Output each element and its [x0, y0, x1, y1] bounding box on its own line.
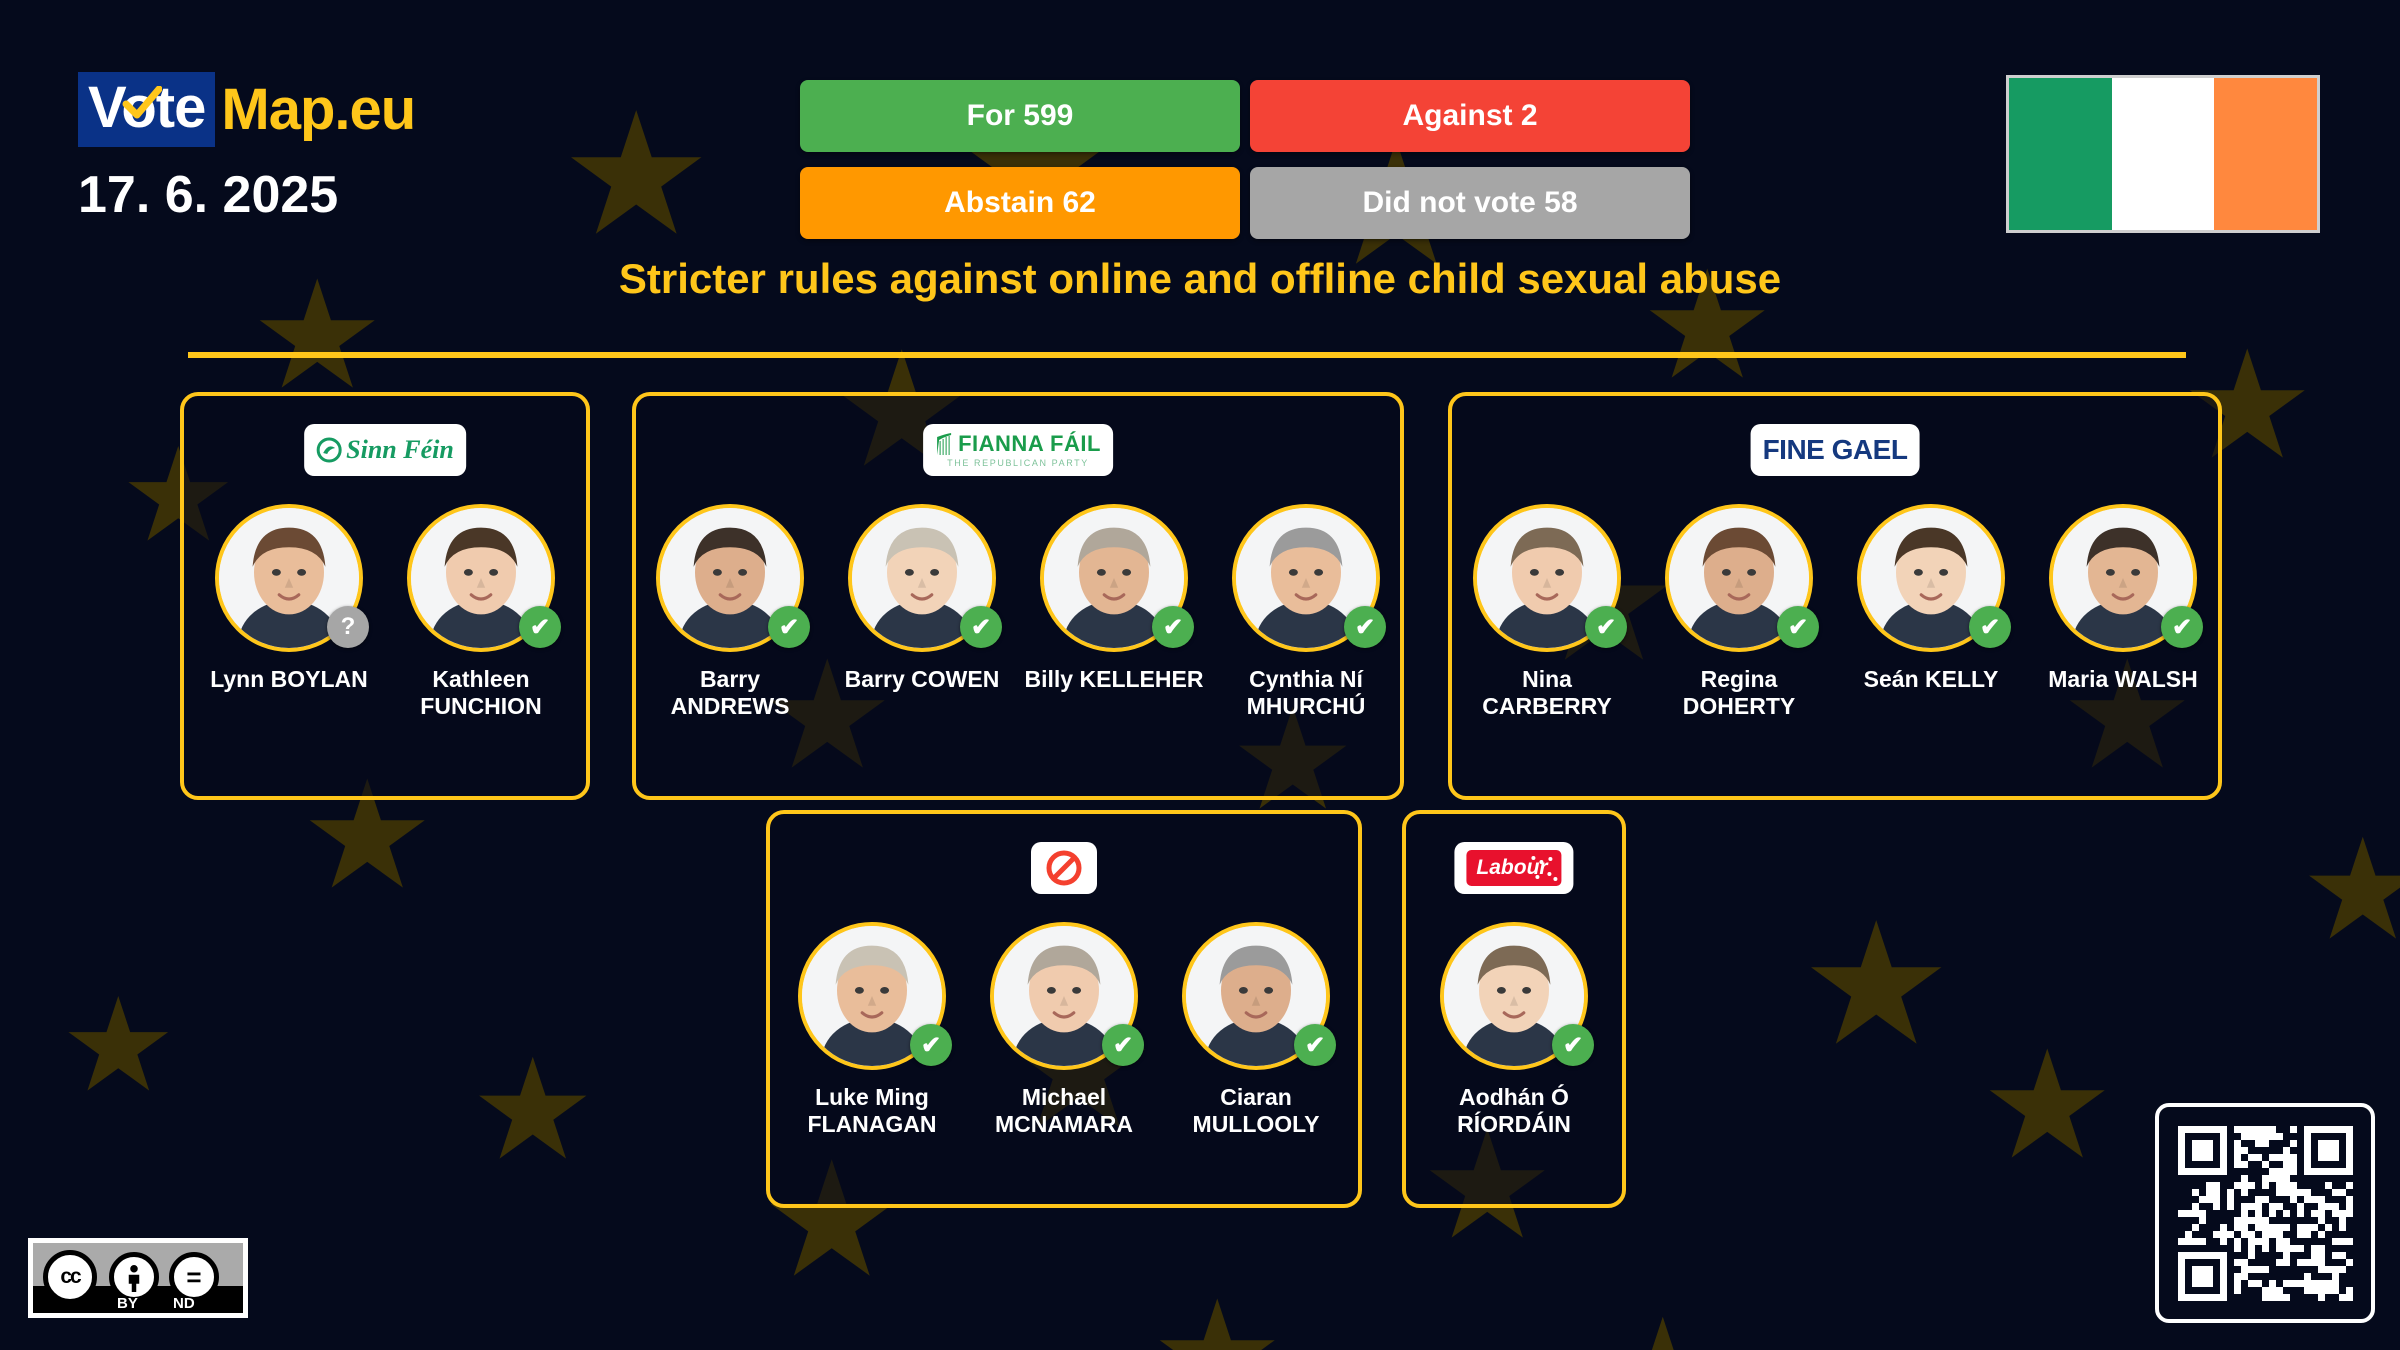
- party-logo-text: Labour: [1466, 850, 1561, 886]
- mep-card[interactable]: ✔Maria WALSH: [2034, 504, 2212, 693]
- mep-card[interactable]: ✔Michael MCNAMARA: [975, 922, 1153, 1138]
- mep-name: Barry ANDREWS: [640, 666, 820, 720]
- mep-last-name: MCNAMARA: [995, 1111, 1133, 1137]
- mep-last-name: FUNCHION: [420, 693, 541, 719]
- mep-card[interactable]: ✔Billy KELLEHER: [1025, 504, 1203, 693]
- star-icon: ★: [2300, 820, 2400, 960]
- mep-row: ✔Nina CARBERRY ✔Regina DOHERTY ✔Seán KEL…: [1452, 504, 2218, 720]
- vote-title: Stricter rules against online and offlin…: [0, 255, 2400, 303]
- mep-row: ✔Aodhán Ó RÍORDÁIN: [1406, 922, 1622, 1138]
- mep-photo-wrap: ✔: [1440, 922, 1588, 1070]
- vote-badge-for: ✔: [1969, 606, 2011, 648]
- mep-name: Lynn BOYLAN: [199, 666, 379, 693]
- star-icon: ★: [1980, 1030, 2114, 1180]
- party-card-fianna-fail[interactable]: FIANNA FÁIL THE REPUBLICAN PARTY ✔Barry …: [632, 392, 1404, 800]
- logo-vote-text: Vote: [88, 75, 205, 140]
- mep-name: Cynthia Ní MHURCHÚ: [1216, 666, 1396, 720]
- mep-name: Barry COWEN: [832, 666, 1012, 693]
- mep-first-name: Barry: [700, 666, 760, 692]
- mep-last-name: BOYLAN: [271, 666, 368, 692]
- mep-name: Regina DOHERTY: [1649, 666, 1829, 720]
- ireland-flag: [2006, 75, 2320, 233]
- mep-card[interactable]: ✔Aodhán Ó RÍORDÁIN: [1425, 922, 1603, 1138]
- vote-badge-for: ✔: [519, 606, 561, 648]
- mep-card[interactable]: ✔Kathleen FUNCHION: [392, 504, 570, 720]
- party-card-independents[interactable]: ✔Luke Ming FLANAGAN ✔Michael MCNAMARA ✔C…: [766, 810, 1362, 1208]
- mep-last-name: RÍORDÁIN: [1457, 1111, 1571, 1137]
- star-icon: ★: [1150, 1280, 1284, 1350]
- cc-by-label: BY: [117, 1295, 138, 1312]
- mep-card[interactable]: ✔Barry ANDREWS: [641, 504, 819, 720]
- mep-photo-wrap: ✔: [407, 504, 555, 652]
- party-logo-fine-gael: FINE GAEL: [1751, 424, 1920, 476]
- party-logo-text: Sinn Féin: [316, 435, 454, 465]
- vote-badge-for: ✔: [1585, 606, 1627, 648]
- mep-name: Seán KELLY: [1841, 666, 2021, 693]
- mep-photo-wrap: ✔: [1232, 504, 1380, 652]
- tally-did-not-vote[interactable]: Did not vote 58: [1250, 167, 1690, 239]
- party-logo-text: FIANNA FÁIL THE REPUBLICAN PARTY: [935, 432, 1101, 468]
- mep-photo-wrap: ✔: [798, 922, 946, 1070]
- party-logo-fianna-fail: FIANNA FÁIL THE REPUBLICAN PARTY: [923, 424, 1113, 476]
- party-logo-sinn-fein: Sinn Féin: [304, 424, 466, 476]
- mep-row: ✔Barry ANDREWS ✔Barry COWEN ✔Billy KELLE…: [636, 504, 1400, 720]
- vote-badge-for: ✔: [910, 1024, 952, 1066]
- vote-date: 17. 6. 2025: [78, 165, 338, 225]
- mep-first-name: Ciaran: [1220, 1084, 1292, 1110]
- mep-last-name: DOHERTY: [1683, 693, 1795, 719]
- flag-band-green: [2009, 78, 2112, 230]
- mep-last-name: CARBERRY: [1482, 693, 1612, 719]
- mep-name: Nina CARBERRY: [1457, 666, 1637, 720]
- mep-first-name: Kathleen: [432, 666, 529, 692]
- mep-photo-wrap: ✔: [1473, 504, 1621, 652]
- vote-badge-for: ✔: [1102, 1024, 1144, 1066]
- party-card-fine-gael[interactable]: FINE GAEL ✔Nina CARBERRY ✔Regina DOHERTY…: [1448, 392, 2222, 800]
- star-icon: ★: [470, 1040, 596, 1180]
- creative-commons-badge: cc = BY ND: [28, 1238, 248, 1318]
- mep-card[interactable]: ?Lynn BOYLAN: [200, 504, 378, 693]
- mep-first-name: Seán: [1864, 666, 1919, 692]
- flag-band-white: [2112, 78, 2215, 230]
- mep-name: Billy KELLEHER: [1024, 666, 1204, 693]
- mep-row: ?Lynn BOYLAN ✔Kathleen FUNCHION: [184, 504, 586, 720]
- party-card-labour[interactable]: Labour ✔Aodhán Ó RÍORDÁIN: [1402, 810, 1626, 1208]
- mep-first-name: Luke Ming: [815, 1084, 929, 1110]
- mep-last-name: KELLEHER: [1080, 666, 1204, 692]
- mep-photo-wrap: ?: [215, 504, 363, 652]
- votemap-logo[interactable]: Vote Map.eu: [78, 72, 415, 147]
- vote-badge-for: ✔: [2161, 606, 2203, 648]
- vote-badge-dnv: ?: [327, 606, 369, 648]
- mep-last-name: KELLY: [1925, 666, 1998, 692]
- mep-photo-wrap: ✔: [1857, 504, 2005, 652]
- vote-badge-for: ✔: [1152, 606, 1194, 648]
- mep-card[interactable]: ✔Cynthia Ní MHURCHÚ: [1217, 504, 1395, 720]
- mep-first-name: Billy: [1025, 666, 1074, 692]
- mep-photo-wrap: ✔: [1665, 504, 1813, 652]
- cc-nd-label: ND: [173, 1295, 195, 1312]
- party-logo-text: FINE GAEL: [1763, 434, 1908, 466]
- mep-card[interactable]: ✔Nina CARBERRY: [1458, 504, 1636, 720]
- star-icon: ★: [1800, 900, 1952, 1070]
- mep-last-name: MULLOOLY: [1193, 1111, 1320, 1137]
- vote-badge-for: ✔: [1777, 606, 1819, 648]
- cc-icon: cc: [43, 1250, 97, 1304]
- mep-photo-wrap: ✔: [990, 922, 1138, 1070]
- vote-badge-for: ✔: [960, 606, 1002, 648]
- mep-last-name: WALSH: [2115, 666, 2198, 692]
- mep-photo-wrap: ✔: [1182, 922, 1330, 1070]
- sinn-fein-emblem-icon: [316, 437, 342, 463]
- header-divider: [188, 352, 2186, 358]
- harp-icon: [935, 432, 953, 456]
- mep-first-name: Regina: [1701, 666, 1778, 692]
- mep-photo-wrap: ✔: [848, 504, 996, 652]
- logo-vote-block: Vote: [78, 72, 215, 147]
- tally-against[interactable]: Against 2: [1250, 80, 1690, 152]
- party-card-sinn-fein[interactable]: Sinn Féin ?Lynn BOYLAN ✔Kathleen FUNCHIO…: [180, 392, 590, 800]
- mep-first-name: Nina: [1522, 666, 1572, 692]
- mep-last-name: FLANAGAN: [807, 1111, 936, 1137]
- mep-card[interactable]: ✔Regina DOHERTY: [1650, 504, 1828, 720]
- mep-photo-wrap: ✔: [656, 504, 804, 652]
- mep-last-name: COWEN: [911, 666, 999, 692]
- mep-card[interactable]: ✔Barry COWEN: [833, 504, 1011, 693]
- tally-abstain[interactable]: Abstain 62: [800, 167, 1240, 239]
- party-logo-labour: Labour: [1454, 842, 1573, 894]
- mep-first-name: Cynthia Ní: [1249, 666, 1363, 692]
- mep-name: Kathleen FUNCHION: [391, 666, 571, 720]
- mep-name: Michael MCNAMARA: [974, 1084, 1154, 1138]
- mep-name: Aodhán Ó RÍORDÁIN: [1424, 1084, 1604, 1138]
- mep-name: Maria WALSH: [2033, 666, 2213, 693]
- qr-code-image: [2172, 1120, 2359, 1307]
- mep-card[interactable]: ✔Ciaran MULLOOLY: [1167, 922, 1345, 1138]
- mep-first-name: Aodhán Ó: [1459, 1084, 1569, 1110]
- mep-first-name: Michael: [1022, 1084, 1106, 1110]
- vote-badge-for: ✔: [1344, 606, 1386, 648]
- vote-badge-for: ✔: [1294, 1024, 1336, 1066]
- mep-last-name: MHURCHÚ: [1247, 693, 1366, 719]
- logo-map-text: Map.eu: [215, 76, 415, 143]
- vote-badge-for: ✔: [1552, 1024, 1594, 1066]
- star-icon: ★: [60, 980, 177, 1110]
- mep-card[interactable]: ✔Seán KELLY: [1842, 504, 2020, 693]
- no-party-icon: [1043, 847, 1085, 889]
- mep-first-name: Maria: [2048, 666, 2108, 692]
- mep-card[interactable]: ✔Luke Ming FLANAGAN: [783, 922, 961, 1138]
- qr-code[interactable]: [2155, 1103, 2375, 1323]
- mep-row: ✔Luke Ming FLANAGAN ✔Michael MCNAMARA ✔C…: [770, 922, 1358, 1138]
- mep-name: Luke Ming FLANAGAN: [782, 1084, 962, 1138]
- mep-last-name: ANDREWS: [671, 693, 790, 719]
- tally-for[interactable]: For 599: [800, 80, 1240, 152]
- flag-band-orange: [2214, 78, 2317, 230]
- mep-photo-wrap: ✔: [1040, 504, 1188, 652]
- party-logo-independents: [1031, 842, 1097, 894]
- header: Vote Map.eu 17. 6. 2025 For 599 Against …: [0, 0, 2400, 260]
- votemap-poster: ★★★★★★★★★★★★★★★★★★★★★★★★ Vote Map.eu 17.…: [0, 0, 2400, 1350]
- vote-badge-for: ✔: [768, 606, 810, 648]
- star-icon: ★: [1600, 1300, 1726, 1350]
- mep-first-name: Barry: [845, 666, 905, 692]
- mep-name: Ciaran MULLOOLY: [1166, 1084, 1346, 1138]
- mep-first-name: Lynn: [210, 666, 264, 692]
- mep-photo-wrap: ✔: [2049, 504, 2197, 652]
